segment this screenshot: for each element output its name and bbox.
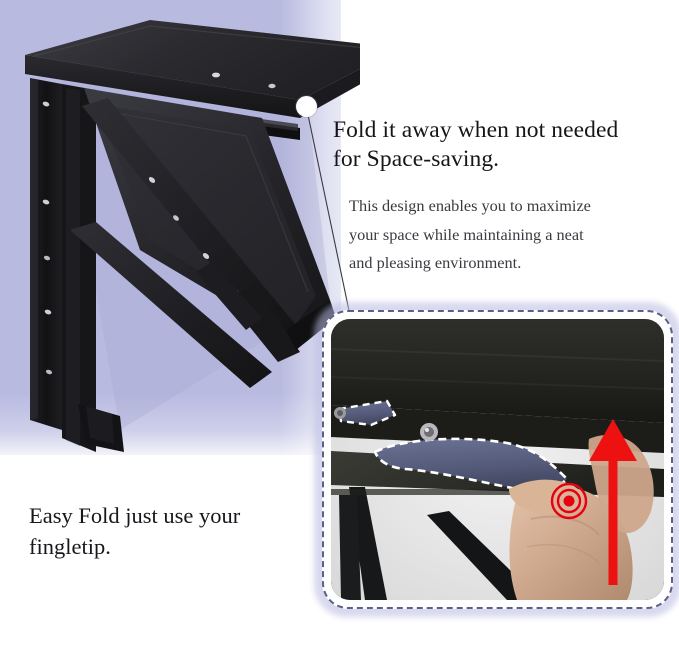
body-line-2: your space while maintaining a neat	[349, 221, 659, 250]
caption-easy-fold: Easy Fold just use your fingletip.	[29, 500, 329, 562]
headline: Fold it away when not needed for Space-s…	[333, 116, 679, 174]
headline-line-1: Fold it away when not needed	[333, 116, 679, 145]
product-infographic: Fold it away when not needed for Space-s…	[0, 0, 679, 649]
body-line-1: This design enables you to maximize	[349, 192, 659, 221]
product-photo-folding-table	[0, 0, 360, 470]
callout-dot	[296, 96, 317, 117]
headline-line-2: for Space-saving.	[333, 145, 679, 174]
body-line-3: and pleasing environment.	[349, 249, 659, 278]
inset-photo-clip	[331, 319, 664, 600]
tap-marker	[552, 484, 586, 518]
body-text: This design enables you to maximize your…	[349, 192, 659, 278]
inset-photo-release-lever	[322, 310, 673, 609]
caption-line-1: Easy Fold just use your	[29, 500, 329, 531]
caption-line-2: fingletip.	[29, 531, 329, 562]
